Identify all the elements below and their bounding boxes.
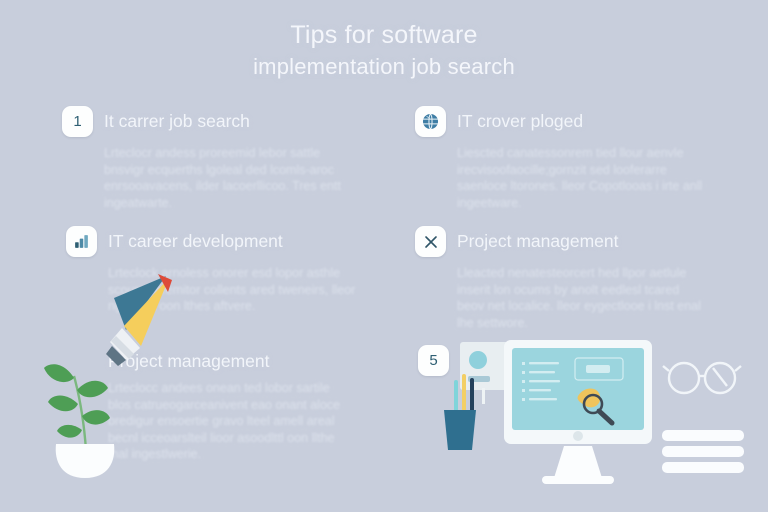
infographic-canvas: Tips for software implementation job sea… [0, 0, 768, 512]
bar-chart-icon [66, 226, 97, 257]
item-title: Project management [457, 226, 618, 252]
title-line-1: Tips for software [0, 20, 768, 50]
item-body-text: Lrteclock arnoless onorer esd lopor asth… [108, 265, 356, 315]
book-stack [662, 430, 744, 473]
badge-label: 1 [73, 114, 81, 129]
item-header: Project management [66, 348, 366, 372]
item-title: IT career development [108, 226, 283, 252]
list-item[interactable]: 1 It carrer job search Lrteclocr andess … [62, 106, 362, 211]
list-item[interactable]: Project management Lleacted nenatesteorc… [415, 226, 715, 331]
item-header: Project management [415, 226, 715, 257]
bar-chart-icon-glyph [73, 233, 90, 250]
item-title: IT crover ploged [457, 106, 583, 132]
page-title: Tips for software implementation job sea… [0, 20, 768, 82]
globe-icon-glyph [421, 112, 440, 131]
item-title: It carrer job search [104, 106, 250, 132]
list-item[interactable]: IT crover ploged Liescted canatessonrem … [415, 106, 715, 211]
badge-label: 5 [429, 353, 437, 368]
item-body-text: Lleacted nenatesteorcert hed llpor aetlu… [457, 265, 705, 331]
title-line-2: implementation job search [0, 52, 768, 82]
item-header: IT career development [66, 226, 366, 257]
close-x-icon [415, 226, 446, 257]
globe-icon [415, 106, 446, 137]
list-item[interactable]: Project management Lrteclocc andees onea… [66, 348, 366, 463]
number-one-badge: 1 [62, 106, 93, 137]
item-header: 5 [418, 345, 718, 376]
item-header: 1 It carrer job search [62, 106, 362, 137]
item-title: Project management [108, 348, 269, 372]
list-item[interactable]: IT career development Lrteclock arnoless… [66, 226, 366, 315]
item-body-text: Liescted canatessonrem tied llour aenvle… [457, 145, 705, 211]
number-five-badge: 5 [418, 345, 449, 376]
close-x-icon-glyph [423, 234, 439, 250]
list-item[interactable]: 5 [418, 345, 718, 376]
item-header: IT crover ploged [415, 106, 715, 137]
item-body-text: Lrteclocc andees onean ted lobor sartile… [108, 380, 356, 463]
pen-cup [444, 374, 476, 450]
item-body-text: Lrteclocr andess proreemid lebor sattle … [104, 145, 352, 211]
